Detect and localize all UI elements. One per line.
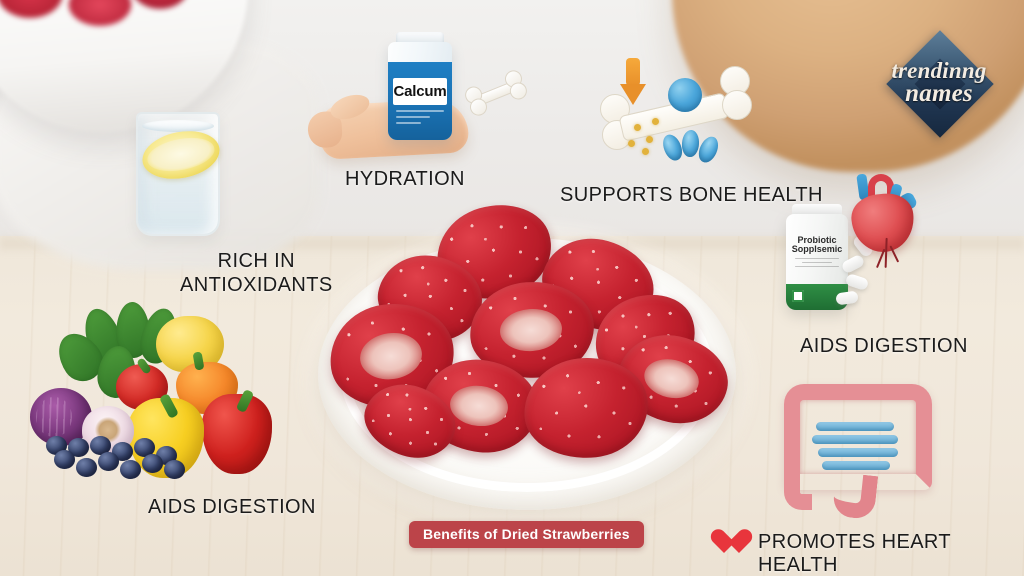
- anatomical-heart-icon: [848, 168, 922, 256]
- probiotic-subtitle-text: Sopplsemic: [790, 245, 844, 254]
- arrow-stem: [626, 58, 640, 86]
- nutrient-seed-icon: [681, 129, 700, 157]
- benefit-label-hydration: HYDRATION: [345, 168, 465, 191]
- heart-muscle: [849, 191, 917, 255]
- logo-line-2: names: [880, 82, 998, 106]
- benefit-label-rich-in-antioxidants: RICH IN ANTIOXIDANTS: [180, 250, 333, 297]
- vegetables-and-berries-icon: [24, 302, 276, 492]
- bottle-fine-print: [396, 110, 444, 128]
- rectum-shape: [832, 472, 878, 520]
- nutrient-seed-icon: [695, 134, 722, 166]
- down-arrow-icon: [620, 58, 646, 106]
- mineral-dot-icon: [634, 124, 641, 131]
- nutrient-berry-icon: [668, 78, 702, 112]
- benefit-label-promotes-heart-health: PROMOTES HEART HEALTH: [758, 531, 1024, 576]
- bottle-label: Probiotic Sopplsemic: [790, 236, 844, 270]
- caption-badge: Benefits of Dried Strawberries: [409, 521, 644, 548]
- calcium-label-text: Calcum: [394, 83, 447, 100]
- mineral-dot-icon: [646, 136, 653, 143]
- bottle-label: Calcum: [393, 78, 447, 105]
- dried-strawberry: [519, 352, 653, 464]
- infographic-poster: Calcum: [0, 0, 1024, 576]
- bottle-fine-print: [790, 258, 844, 268]
- dried-strawberries-pile: [318, 200, 738, 490]
- bone-knob: [722, 90, 752, 120]
- blueberry-icon: [98, 452, 119, 471]
- blueberry-icon: [164, 460, 185, 479]
- calcium-bottle: Calcum: [388, 42, 452, 140]
- mineral-dot-icon: [652, 118, 659, 125]
- watermark-logo: trendinng names: [880, 38, 998, 142]
- benefit-label-supports-bone-health: SUPPORTS BONE HEALTH: [560, 184, 823, 207]
- logo-line-1: trendinng: [880, 60, 998, 82]
- bone-with-nutrients-icon: [598, 56, 754, 178]
- mineral-dot-icon: [642, 148, 649, 155]
- intestine-icon: [776, 378, 942, 520]
- benefit-label-aids-digestion-left: AIDS DIGESTION: [148, 496, 316, 519]
- logo-text: trendinng names: [880, 60, 998, 106]
- blueberry-icon: [54, 450, 75, 469]
- small-intestine-shape: [816, 422, 902, 474]
- mineral-dot-icon: [628, 140, 635, 147]
- benefit-label-aids-digestion-right: AIDS DIGESTION: [800, 335, 968, 358]
- blueberry-icon: [142, 454, 163, 473]
- arrow-head: [620, 84, 646, 105]
- blueberry-icon: [76, 458, 97, 477]
- blueberry-icon: [120, 460, 141, 479]
- colon-descending: [784, 474, 812, 510]
- red-heart-icon: [710, 528, 740, 556]
